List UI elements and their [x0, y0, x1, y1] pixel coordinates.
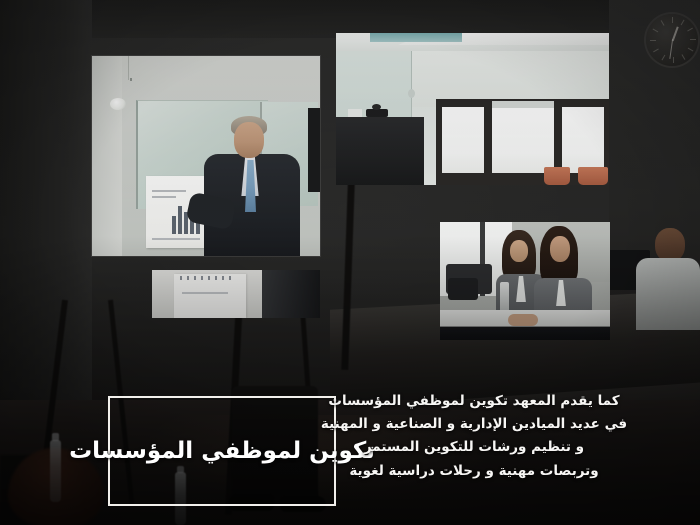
tv-display	[336, 117, 424, 185]
window-pane	[562, 107, 604, 173]
body-line-3: و تنظيم ورشات للتكوين المستمر	[274, 436, 674, 459]
water-bottle	[50, 440, 61, 502]
easel-strip-inset	[152, 270, 320, 318]
left-wall	[0, 0, 92, 400]
body-line-1: كما يقدم المعهد تكوين لموظفي المؤسسات	[274, 390, 674, 413]
body-line-4: وتربصات مهنية و رحلات دراسية لغوية	[274, 460, 674, 483]
attendee-body	[636, 258, 700, 330]
inset-wall	[92, 56, 122, 256]
seated-attendees-inset	[440, 222, 610, 340]
flower-pot	[544, 167, 570, 185]
window-frame	[436, 99, 609, 185]
attendee-head	[655, 228, 685, 262]
chart-paper	[174, 274, 246, 318]
video-camera	[366, 109, 388, 117]
inset-shadow	[262, 270, 320, 318]
wall-clock-icon	[646, 14, 698, 66]
body-paragraph: كما يقدم المعهد تكوين لموظفي المؤسسات في…	[274, 390, 674, 483]
attendee-face	[510, 240, 528, 262]
paper-rings	[180, 276, 236, 280]
slide-canvas: تكوين لموظفي المؤسسات كما يقدم المعهد تك…	[0, 0, 700, 525]
window-pane	[442, 107, 484, 173]
wire-clip	[130, 78, 132, 81]
flower-pot	[578, 167, 608, 185]
window-pane	[492, 107, 554, 173]
ceiling-lamp-icon	[110, 98, 126, 110]
body-line-2: في عديد الميادين الإدارية و الصناعية و ا…	[274, 413, 674, 436]
presenter-head	[234, 122, 264, 158]
inset-back-wall	[412, 45, 609, 107]
paper-line	[182, 292, 228, 294]
presenter-photo-inset	[92, 56, 320, 256]
attendee-hands	[508, 314, 538, 326]
ceiling-teal-accent	[370, 33, 462, 42]
bag	[448, 278, 478, 300]
smoke-detector-icon	[408, 89, 415, 98]
window-transom	[492, 101, 554, 108]
camera-lens-icon	[372, 104, 381, 110]
hanging-wire	[128, 56, 129, 80]
wall-screen-edge	[308, 108, 320, 192]
attendee-face	[550, 236, 570, 262]
meeting-room-window-inset	[336, 33, 609, 185]
